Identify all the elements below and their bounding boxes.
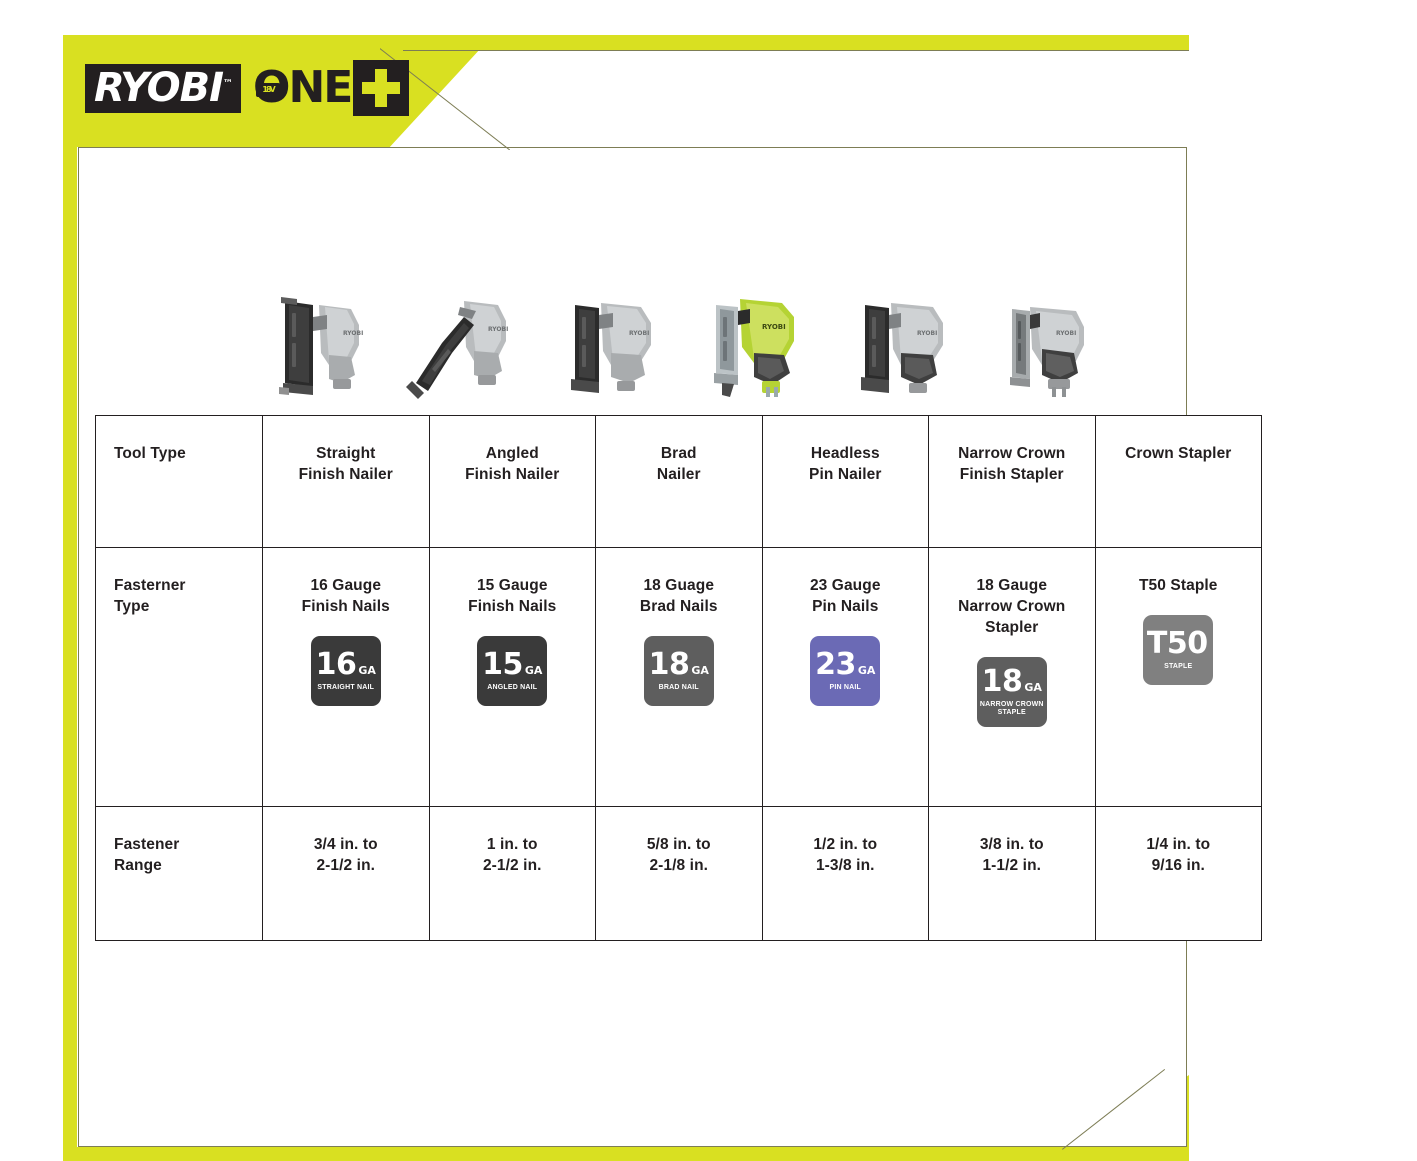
cell-line: Finish Stapler <box>935 465 1089 486</box>
cell-fastener-type-crown-stapler: T50 Staple T50 STAPLE <box>1095 548 1262 807</box>
row-label-line: Fasterner <box>114 576 262 597</box>
table-row-tool-type: Tool Type Straight Finish Nailer Angled … <box>96 416 1262 548</box>
badge-unit: GA <box>691 666 709 676</box>
badge-number: 15 <box>482 651 523 680</box>
cell-line: 2-1/2 in. <box>436 856 590 877</box>
cell-fastener-range-narrow-crown-finish-stapler: 3/8 in. to 1-1/2 in. <box>929 807 1096 941</box>
cell-line: 23 Gauge <box>769 576 923 597</box>
ryobi-nailer-comparison-page: RYOBI™ ONE 18V <box>0 0 1417 1161</box>
tool-photos-spacer <box>95 272 243 412</box>
gauge-badge-23ga: 23 GA PIN NAIL <box>810 636 880 706</box>
tool-photo-cell-5: RYOBI <box>831 272 978 412</box>
badge-sublabel: PIN NAIL <box>829 684 861 692</box>
badge-unit: GA <box>358 666 376 676</box>
cell-line: 5/8 in. to <box>602 835 756 856</box>
narrow-crown-finish-stapler-photo: RYOBI <box>843 283 967 401</box>
ryobi-wordmark-text: RYOBI <box>94 65 223 111</box>
cell-tool-type-narrow-crown-finish-stapler: Narrow Crown Finish Stapler <box>929 416 1096 548</box>
badge-number: 18 <box>649 651 690 680</box>
tool-comparison-table: Tool Type Straight Finish Nailer Angled … <box>95 415 1262 941</box>
svg-text:RYOBI: RYOBI <box>488 326 508 333</box>
cell-fastener-range-brad-nailer: 5/8 in. to 2-1/8 in. <box>596 807 763 941</box>
cell-fastener-range-angled-finish-nailer: 1 in. to 2-1/2 in. <box>429 807 596 941</box>
badge-sublabel: ANGLED NAIL <box>487 684 537 692</box>
cell-line: 1-3/8 in. <box>769 856 923 877</box>
cell-line: 18 Gauge <box>935 576 1089 597</box>
cell-line: Nailer <box>602 465 756 486</box>
svg-text:RYOBI: RYOBI <box>343 330 363 337</box>
cell-line: Straight <box>269 444 423 465</box>
one-wordmark: ONE 18V <box>253 66 351 110</box>
cell-line: Pin Nails <box>769 597 923 618</box>
headless-pin-nailer-photo: RYOBI <box>696 283 820 401</box>
cell-tool-type-brad-nailer: Brad Nailer <box>596 416 763 548</box>
cell-fastener-range-headless-pin-nailer: 1/2 in. to 1-3/8 in. <box>762 807 929 941</box>
cell-line: 3/8 in. to <box>935 835 1089 856</box>
cell-line: Finish Nails <box>436 597 590 618</box>
cell-line: 18 Guage <box>602 576 756 597</box>
cell-line: T50 Staple <box>1102 576 1256 597</box>
cell-fastener-type-narrow-crown-finish-stapler: 18 Gauge Narrow Crown Stapler 18 GA NARR… <box>929 548 1096 807</box>
gauge-badge-16ga: 16 GA STRAIGHT NAIL <box>311 636 381 706</box>
cell-fastener-type-headless-pin-nailer: 23 Gauge Pin Nails 23 GA PIN NAIL <box>762 548 929 807</box>
cell-line: Finish Nails <box>269 597 423 618</box>
cell-line: 2-1/8 in. <box>602 856 756 877</box>
badge-sublabel: STRAIGHT NAIL <box>317 684 374 692</box>
cell-line: Crown Stapler <box>1102 444 1256 465</box>
badge-number: 16 <box>316 651 357 680</box>
svg-text:RYOBI: RYOBI <box>629 330 649 337</box>
cell-tool-type-straight-finish-nailer: Straight Finish Nailer <box>263 416 430 548</box>
row-label-line: Fastener <box>114 835 262 856</box>
gauge-badge-15ga: 15 GA ANGLED NAIL <box>477 636 547 706</box>
plus-icon <box>353 60 409 116</box>
cell-line: Brad Nails <box>602 597 756 618</box>
cell-line: 2-1/2 in. <box>269 856 423 877</box>
cell-line: Pin Nailer <box>769 465 923 486</box>
badge-sublabel: BRAD NAIL <box>659 684 699 692</box>
cell-fastener-type-brad-nailer: 18 Guage Brad Nails 18 GA BRAD NAIL <box>596 548 763 807</box>
cell-fastener-type-straight-finish-nailer: 16 Gauge Finish Nails 16 GA STRAIGHT NAI… <box>263 548 430 807</box>
frame-bottom-band <box>63 1147 1189 1161</box>
badge-unit: GA <box>1024 683 1042 693</box>
ryobi-one-plus-logo: RYOBI™ ONE 18V <box>85 60 409 116</box>
cell-line: 15 Gauge <box>436 576 590 597</box>
row-label-line: Tool Type <box>114 444 262 465</box>
badge-number: 23 <box>815 651 856 680</box>
voltage-badge: 18V <box>256 83 280 97</box>
row-label-fastener-type: Fasterner Type <box>96 548 263 807</box>
badge-sublabel: STAPLE <box>1164 663 1192 671</box>
cell-fastener-type-angled-finish-nailer: 15 Gauge Finish Nails 15 GA ANGLED NAIL <box>429 548 596 807</box>
cell-line: 1/4 in. to <box>1102 835 1256 856</box>
cell-line: Stapler <box>935 618 1089 639</box>
tool-photo-cell-2: RYOBI <box>390 272 537 412</box>
tool-photo-cell-1: RYOBI <box>243 272 390 412</box>
cell-line: Finish Nailer <box>269 465 423 486</box>
cell-line: 1 in. to <box>436 835 590 856</box>
table-row-fastener-range: Fastener Range 3/4 in. to 2-1/2 in. 1 in… <box>96 807 1262 941</box>
straight-finish-nailer-photo: RYOBI <box>255 283 379 401</box>
angled-finish-nailer-photo: RYOBI <box>402 283 526 401</box>
one-plus-lockup: ONE 18V <box>253 60 409 116</box>
badge-unit: GA <box>858 666 876 676</box>
badge-sublabel: NARROW CROWN STAPLE <box>977 701 1047 718</box>
row-label-line: Type <box>114 597 262 618</box>
table-row-fastener-type: Fasterner Type 16 Gauge Finish Nails 16 … <box>96 548 1262 807</box>
row-label-fastener-range: Fastener Range <box>96 807 263 941</box>
inner-page-bottom-diagonal-edge <box>1040 1055 1200 1155</box>
badge-number: T50 <box>1147 630 1208 659</box>
gauge-badge-t50: T50 STAPLE <box>1143 615 1213 685</box>
cell-line: 16 Gauge <box>269 576 423 597</box>
frame-left-band <box>63 35 77 1161</box>
cell-line: 3/4 in. to <box>269 835 423 856</box>
ryobi-wordmark: RYOBI™ <box>85 64 241 113</box>
cell-line: 9/16 in. <box>1102 856 1256 877</box>
brad-nailer-photo: RYOBI <box>549 283 673 401</box>
gauge-badge-18ga-narrow-crown: 18 GA NARROW CROWN STAPLE <box>977 657 1047 727</box>
svg-text:RYOBI: RYOBI <box>917 330 937 337</box>
svg-text:RYOBI: RYOBI <box>762 323 786 331</box>
cell-line: 1-1/2 in. <box>935 856 1089 877</box>
cell-tool-type-angled-finish-nailer: Angled Finish Nailer <box>429 416 596 548</box>
tool-photo-cell-4: RYOBI <box>684 272 831 412</box>
cell-tool-type-crown-stapler: Crown Stapler <box>1095 416 1262 548</box>
cell-line: 1/2 in. to <box>769 835 923 856</box>
cell-fastener-range-straight-finish-nailer: 3/4 in. to 2-1/2 in. <box>263 807 430 941</box>
cell-line: Angled <box>436 444 590 465</box>
badge-number: 18 <box>982 668 1023 697</box>
tool-photo-cell-6: RYOBI <box>978 272 1125 412</box>
tool-photo-cell-3: RYOBI <box>537 272 684 412</box>
cell-line: Narrow Crown <box>935 597 1089 618</box>
row-label-tool-type: Tool Type <box>96 416 263 548</box>
trademark-icon: ™ <box>223 78 232 89</box>
row-label-line: Range <box>114 856 262 877</box>
cell-line: Headless <box>769 444 923 465</box>
cell-line: Finish Nailer <box>436 465 590 486</box>
cell-fastener-range-crown-stapler: 1/4 in. to 9/16 in. <box>1095 807 1262 941</box>
cell-tool-type-headless-pin-nailer: Headless Pin Nailer <box>762 416 929 548</box>
cell-line: Brad <box>602 444 756 465</box>
cell-line: Narrow Crown <box>935 444 1089 465</box>
gauge-badge-18ga-brad: 18 GA BRAD NAIL <box>644 636 714 706</box>
tool-photos-row: RYOBI RYOBI <box>95 272 1167 412</box>
badge-unit: GA <box>525 666 543 676</box>
crown-stapler-photo: RYOBI <box>990 283 1114 401</box>
inner-page-top-edge <box>403 50 1189 51</box>
svg-text:RYOBI: RYOBI <box>1056 330 1076 337</box>
